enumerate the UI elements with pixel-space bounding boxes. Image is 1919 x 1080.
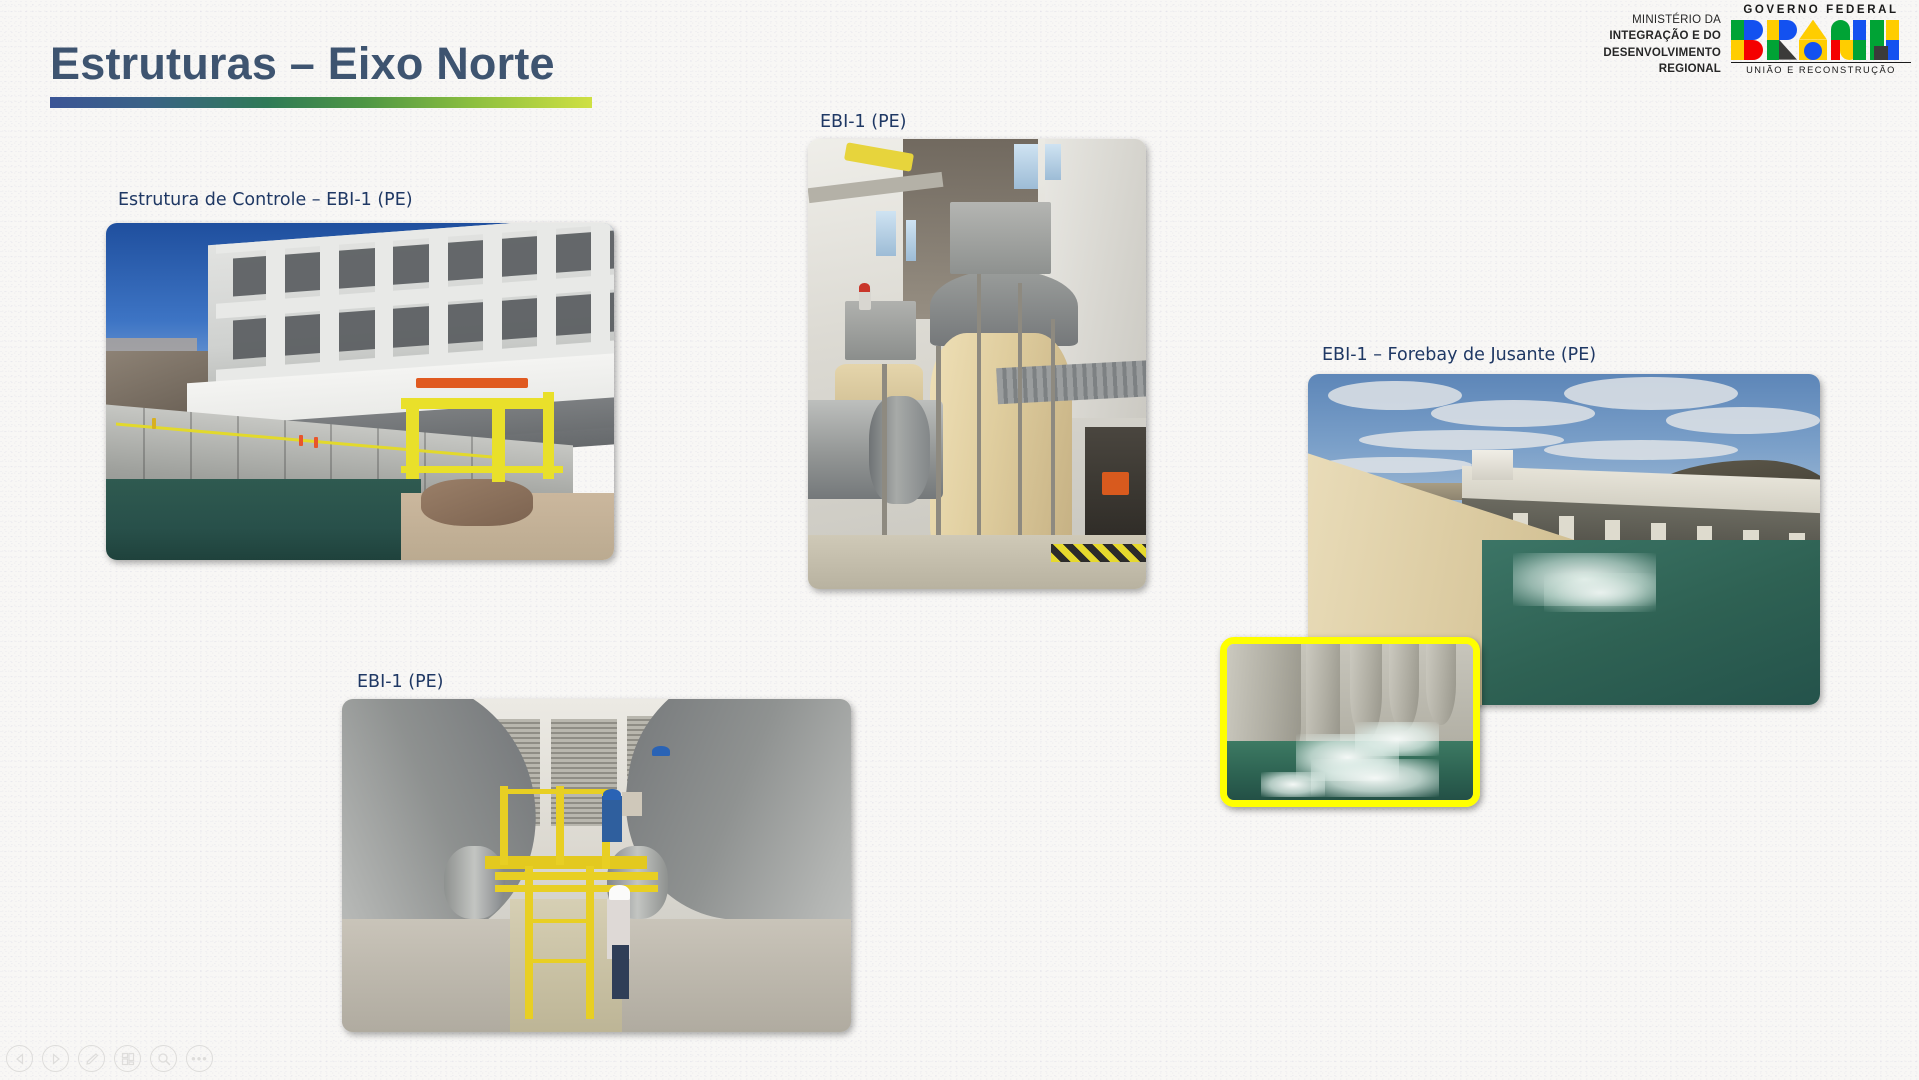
title-block: Estruturas – Eixo Norte xyxy=(50,40,592,108)
pen-icon xyxy=(85,1052,99,1066)
caption-forebay: EBI-1 – Forebay de Jusante (PE) xyxy=(1322,345,1596,365)
brasil-lockup: GOVERNO FEDERAL xyxy=(1731,4,1911,75)
previous-slide-button[interactable] xyxy=(6,1045,33,1072)
ministry-line-3: DESENVOLVIMENTO xyxy=(1603,45,1721,61)
ministry-line-1: MINISTÉRIO DA xyxy=(1603,12,1721,28)
page-title: Estruturas – Eixo Norte xyxy=(50,40,592,89)
triangle-right-icon xyxy=(50,1053,62,1065)
zoom-button[interactable] xyxy=(150,1045,177,1072)
brasil-logo-icon xyxy=(1731,20,1911,60)
photo-pump-hall[interactable] xyxy=(808,139,1146,589)
grid-icon xyxy=(121,1052,135,1066)
next-slide-button[interactable] xyxy=(42,1045,69,1072)
caption-pump-hall: EBI-1 (PE) xyxy=(820,112,907,132)
annotate-button[interactable] xyxy=(78,1045,105,1072)
photo-control-structure-image xyxy=(106,223,614,560)
triangle-left-icon xyxy=(14,1053,26,1065)
slide-grid-button[interactable] xyxy=(114,1045,141,1072)
photo-piers-detail[interactable] xyxy=(1220,637,1480,807)
uniao-reconstrucao-tagline: UNIÃO E RECONSTRUÇÃO xyxy=(1731,62,1911,75)
title-accent-rule xyxy=(50,97,592,108)
photo-penstocks[interactable] xyxy=(342,699,851,1032)
ministry-line-4: REGIONAL xyxy=(1603,61,1721,77)
ellipsis-icon: ••• xyxy=(191,1052,208,1065)
ministry-line-2: INTEGRAÇÃO E DO xyxy=(1603,28,1721,44)
photo-control-structure[interactable] xyxy=(106,223,614,560)
caption-penstocks: EBI-1 (PE) xyxy=(357,672,444,692)
magnifier-icon xyxy=(157,1052,171,1066)
governo-federal-label: GOVERNO FEDERAL xyxy=(1731,4,1911,17)
presentation-toolbar: ••• xyxy=(6,1045,213,1072)
government-branding: MINISTÉRIO DA INTEGRAÇÃO E DO DESENVOLVI… xyxy=(1603,4,1911,77)
photo-pump-hall-image xyxy=(808,139,1146,589)
more-options-button[interactable]: ••• xyxy=(186,1045,213,1072)
ministry-name: MINISTÉRIO DA INTEGRAÇÃO E DO DESENVOLVI… xyxy=(1603,4,1721,77)
caption-control-structure: Estrutura de Controle – EBI-1 (PE) xyxy=(118,190,413,210)
photo-piers-detail-image xyxy=(1227,644,1473,800)
photo-penstocks-image xyxy=(342,699,851,1032)
